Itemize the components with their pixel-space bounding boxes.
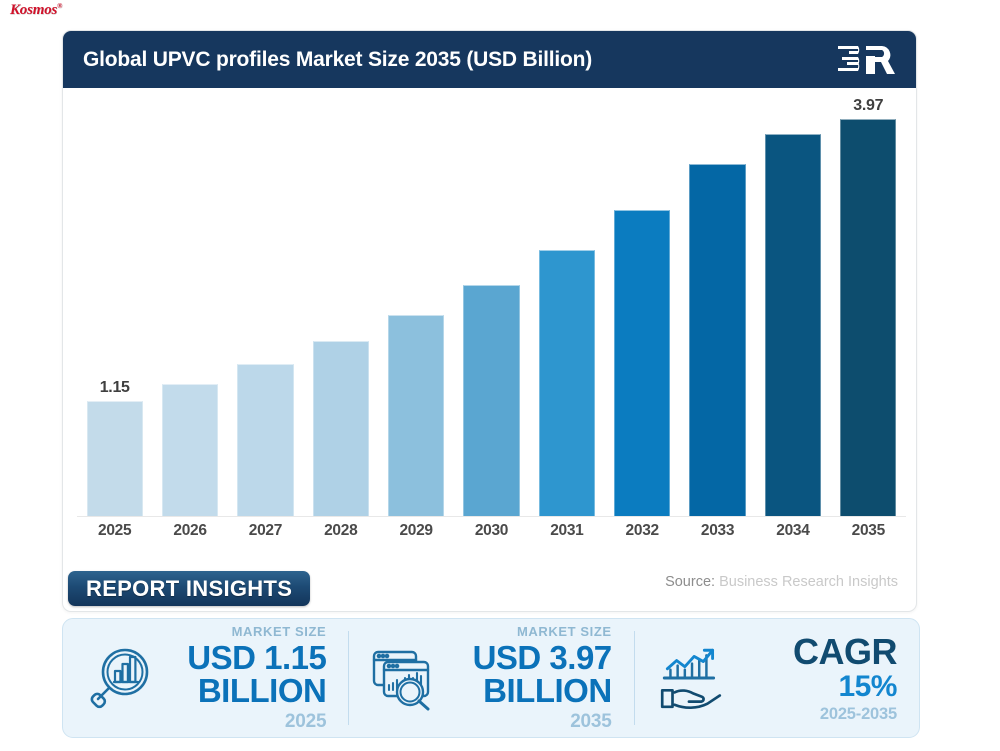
x-axis-labels: 2025 2026 2027 2028 2029 2030 2031 2032 … (77, 522, 906, 540)
windows-chart-magnifier-icon (366, 637, 444, 719)
bar-2031 (539, 250, 595, 516)
bar-column (614, 96, 670, 516)
cagr-value: 15% (730, 672, 897, 702)
x-tick-label: 2027 (237, 522, 293, 540)
bar-2025 (87, 401, 143, 516)
bar-column: 1.15 (87, 96, 143, 516)
insight-card-market-size-2035: MARKET SIZE USD 3.97 BILLION 2035 (348, 619, 633, 737)
insight-card-market-size-2025: MARKET SIZE USD 1.15 BILLION 2025 (63, 619, 348, 737)
watermark-text: Kosmos (10, 2, 57, 18)
chart-card: Global UPVC profiles Market Size 2035 (U… (62, 30, 917, 612)
x-tick-label: 2029 (388, 522, 444, 540)
bar-column (237, 96, 293, 516)
br-logo-icon (836, 42, 898, 78)
x-tick-label: 2026 (162, 522, 218, 540)
bar-2030 (463, 285, 519, 516)
bar-column (162, 96, 218, 516)
insight-value-line2: BILLION (159, 675, 326, 707)
insight-year: 2025 (159, 712, 326, 731)
insights-panel: MARKET SIZE USD 1.15 BILLION 2025 (62, 618, 920, 738)
bar-2033 (689, 164, 745, 516)
insight-year: 2035 (444, 712, 611, 731)
insight-text-block: CAGR 15% 2025-2035 (730, 634, 909, 723)
insight-card-cagr: CAGR 15% 2025-2035 (634, 619, 919, 737)
bar-column (463, 96, 519, 516)
x-tick-label: 2034 (765, 522, 821, 540)
bar-2035 (840, 119, 896, 516)
watermark-registered-mark: ® (57, 2, 62, 10)
bar-chart-plot: 1.15 3.97 2025 2026 (63, 88, 916, 556)
insight-text-block: MARKET SIZE USD 3.97 BILLION 2035 (444, 625, 623, 731)
x-tick-label: 2028 (313, 522, 369, 540)
bar-column (388, 96, 444, 516)
bar-2034 (765, 134, 821, 516)
bar-column (539, 96, 595, 516)
insight-kicker: MARKET SIZE (444, 625, 611, 638)
x-tick-label: 2032 (614, 522, 670, 540)
bar-value-label: 3.97 (829, 97, 908, 115)
bar-column (313, 96, 369, 516)
insight-text-block: MARKET SIZE USD 1.15 BILLION 2025 (159, 625, 338, 731)
x-tick-label: 2025 (87, 522, 143, 540)
report-insights-badge: REPORT INSIGHTS (68, 571, 310, 606)
x-tick-label: 2031 (539, 522, 595, 540)
page-title: Global UPVC profiles Market Size 2035 (U… (83, 48, 592, 72)
bar-column: 3.97 (840, 96, 896, 516)
x-axis-line (77, 516, 906, 517)
source-name: Business Research Insights (719, 574, 898, 590)
source-attribution: Source: Business Research Insights (665, 574, 898, 590)
magnifier-bar-chart-icon (81, 637, 159, 719)
bar-2029 (388, 315, 444, 516)
bar-series: 1.15 3.97 (77, 96, 906, 516)
insight-value-line2: BILLION (444, 675, 611, 707)
source-prefix: Source: (665, 574, 715, 590)
chart-header: Global UPVC profiles Market Size 2035 (U… (63, 31, 916, 88)
bar-2032 (614, 210, 670, 516)
x-tick-label: 2033 (689, 522, 745, 540)
kosmos-watermark: Kosmos® (10, 2, 62, 19)
x-tick-label: 2035 (840, 522, 896, 540)
bar-column (689, 96, 745, 516)
bar-2028 (313, 341, 369, 516)
bar-value-label: 1.15 (75, 379, 154, 397)
bar-2026 (162, 384, 218, 516)
insight-value-line1: USD 3.97 (444, 642, 611, 674)
infographic-root: Kosmos® Global UPVC profiles Market Size… (0, 0, 1000, 751)
insight-value-line1: USD 1.15 (159, 642, 326, 674)
bar-column (765, 96, 821, 516)
x-tick-label: 2030 (463, 522, 519, 540)
bar-2027 (237, 364, 293, 516)
report-insights-label: REPORT INSIGHTS (86, 576, 292, 602)
cagr-period: 2025-2035 (730, 706, 897, 723)
hand-growth-chart-icon (652, 637, 730, 719)
insight-kicker: MARKET SIZE (159, 625, 326, 638)
cagr-label: CAGR (730, 634, 897, 670)
